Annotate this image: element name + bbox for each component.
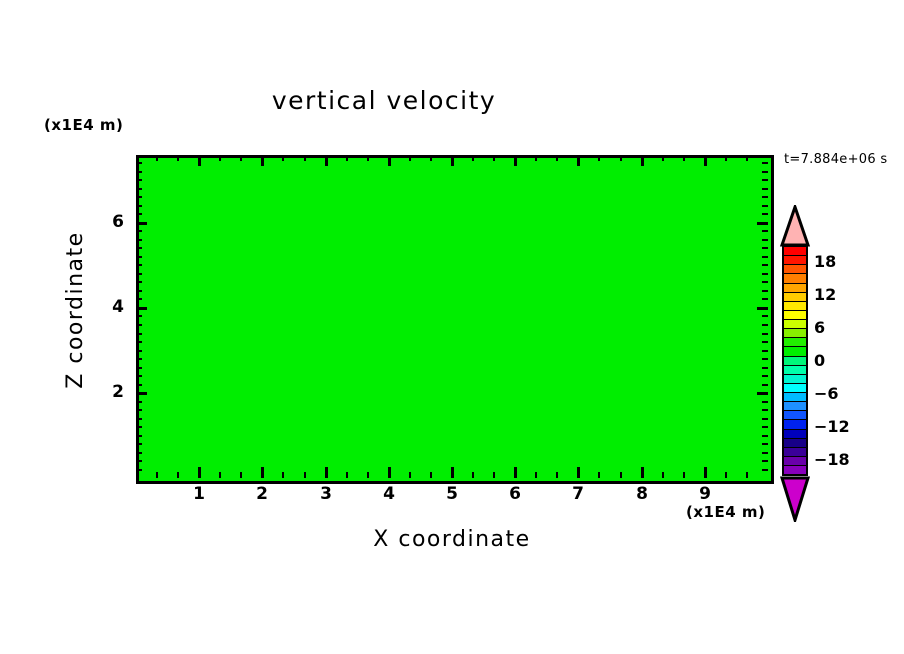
colorbar-band bbox=[784, 402, 806, 411]
x-tick-minor bbox=[304, 472, 306, 478]
x-tick-minor bbox=[156, 155, 158, 161]
x-tick-minor bbox=[598, 472, 600, 478]
y-tick-minor bbox=[762, 418, 768, 420]
colorbar-bands bbox=[782, 245, 808, 476]
colorbar-band bbox=[784, 329, 806, 338]
x-tick-minor bbox=[409, 472, 411, 478]
x-tick-label: 6 bbox=[495, 484, 535, 504]
x-tick-label: 2 bbox=[242, 484, 282, 504]
colorbar-tick-label: 6 bbox=[814, 318, 825, 337]
x-tick-major bbox=[388, 467, 391, 478]
x-tick-minor bbox=[282, 155, 284, 161]
x-tick-minor bbox=[282, 472, 284, 478]
x-tick-minor bbox=[430, 155, 432, 161]
y-tick-minor bbox=[136, 367, 142, 369]
y-tick-minor bbox=[136, 358, 142, 360]
colorbar-tick-label: −18 bbox=[814, 450, 850, 469]
x-tick-major bbox=[514, 155, 517, 166]
x-tick-minor bbox=[556, 155, 558, 161]
y-tick-minor bbox=[136, 281, 142, 283]
colorbar-band bbox=[784, 293, 806, 302]
x-tick-major bbox=[325, 467, 328, 478]
y-tick-minor bbox=[762, 188, 768, 190]
y-tick-minor bbox=[762, 239, 768, 241]
x-tick-minor bbox=[598, 155, 600, 161]
y-tick-major bbox=[757, 222, 768, 225]
axis-decorations: 123456789246 bbox=[0, 0, 904, 654]
x-tick-minor bbox=[240, 155, 242, 161]
colorbar-band bbox=[784, 366, 806, 375]
x-tick-minor bbox=[304, 155, 306, 161]
y-tick-major bbox=[136, 222, 147, 225]
y-tick-minor bbox=[762, 315, 768, 317]
y-tick-minor bbox=[762, 247, 768, 249]
y-tick-minor bbox=[136, 418, 142, 420]
colorbar-band bbox=[784, 384, 806, 393]
y-tick-minor bbox=[762, 171, 768, 173]
x-tick-minor bbox=[683, 155, 685, 161]
colorbar: 181260−6−12−18 bbox=[778, 205, 898, 525]
x-tick-major bbox=[388, 155, 391, 166]
x-tick-minor bbox=[367, 155, 369, 161]
y-tick-minor bbox=[136, 196, 142, 198]
y-tick-minor bbox=[762, 469, 768, 471]
x-tick-minor bbox=[472, 472, 474, 478]
x-tick-minor bbox=[683, 472, 685, 478]
y-tick-minor bbox=[136, 324, 142, 326]
colorbar-band bbox=[784, 466, 806, 474]
colorbar-band bbox=[784, 448, 806, 457]
colorbar-under-arrow-icon bbox=[778, 474, 812, 522]
x-tick-major bbox=[704, 467, 707, 478]
y-tick-minor bbox=[762, 384, 768, 386]
y-tick-minor bbox=[136, 426, 142, 428]
x-tick-minor bbox=[472, 155, 474, 161]
y-tick-label: 2 bbox=[94, 382, 124, 402]
y-tick-label: 6 bbox=[94, 212, 124, 232]
x-tick-minor bbox=[746, 155, 748, 161]
colorbar-tick-label: 12 bbox=[814, 285, 836, 304]
x-tick-minor bbox=[556, 472, 558, 478]
y-tick-minor bbox=[762, 179, 768, 181]
x-tick-minor bbox=[746, 472, 748, 478]
y-tick-minor bbox=[136, 205, 142, 207]
y-tick-minor bbox=[762, 256, 768, 258]
y-tick-minor bbox=[136, 264, 142, 266]
x-tick-major bbox=[577, 155, 580, 166]
x-tick-major bbox=[451, 467, 454, 478]
x-tick-minor bbox=[346, 155, 348, 161]
y-tick-minor bbox=[136, 443, 142, 445]
colorbar-band bbox=[784, 274, 806, 283]
y-tick-minor bbox=[136, 290, 142, 292]
y-tick-minor bbox=[136, 341, 142, 343]
x-tick-minor bbox=[662, 472, 664, 478]
x-tick-minor bbox=[725, 155, 727, 161]
y-tick-minor bbox=[136, 298, 142, 300]
y-tick-minor bbox=[762, 409, 768, 411]
colorbar-band bbox=[784, 256, 806, 265]
y-tick-major bbox=[136, 392, 147, 395]
x-tick-minor bbox=[535, 472, 537, 478]
y-tick-major bbox=[136, 307, 147, 310]
x-tick-major bbox=[261, 467, 264, 478]
colorbar-band bbox=[784, 347, 806, 356]
x-tick-minor bbox=[662, 155, 664, 161]
colorbar-band bbox=[784, 302, 806, 311]
y-tick-minor bbox=[136, 375, 142, 377]
x-tick-minor bbox=[367, 472, 369, 478]
y-tick-minor bbox=[762, 375, 768, 377]
x-tick-minor bbox=[493, 155, 495, 161]
y-tick-minor bbox=[136, 188, 142, 190]
x-tick-major bbox=[577, 467, 580, 478]
y-tick-minor bbox=[136, 401, 142, 403]
colorbar-band bbox=[784, 338, 806, 347]
y-tick-minor bbox=[136, 333, 142, 335]
plot-canvas: vertical velocity (x1E4 m) t=7.884e+06 s… bbox=[0, 0, 904, 654]
colorbar-over-arrow-icon bbox=[778, 205, 812, 247]
y-tick-minor bbox=[762, 350, 768, 352]
colorbar-band bbox=[784, 284, 806, 293]
y-tick-minor bbox=[762, 460, 768, 462]
y-tick-minor bbox=[136, 384, 142, 386]
x-tick-minor bbox=[620, 155, 622, 161]
y-tick-minor bbox=[762, 333, 768, 335]
x-tick-label: 8 bbox=[622, 484, 662, 504]
colorbar-band bbox=[784, 439, 806, 448]
x-tick-major bbox=[641, 155, 644, 166]
colorbar-band bbox=[784, 311, 806, 320]
x-tick-major bbox=[198, 467, 201, 478]
y-tick-minor bbox=[762, 435, 768, 437]
x-tick-minor bbox=[219, 472, 221, 478]
x-tick-major bbox=[325, 155, 328, 166]
y-tick-minor bbox=[136, 230, 142, 232]
x-tick-minor bbox=[177, 472, 179, 478]
y-tick-minor bbox=[762, 290, 768, 292]
y-tick-minor bbox=[762, 367, 768, 369]
y-tick-minor bbox=[762, 213, 768, 215]
y-tick-minor bbox=[136, 273, 142, 275]
colorbar-band bbox=[784, 265, 806, 274]
colorbar-tick-label: 18 bbox=[814, 252, 836, 271]
y-tick-label: 4 bbox=[94, 297, 124, 317]
y-tick-minor bbox=[136, 315, 142, 317]
y-tick-minor bbox=[762, 196, 768, 198]
x-tick-major bbox=[261, 155, 264, 166]
y-tick-minor bbox=[136, 469, 142, 471]
x-tick-minor bbox=[430, 472, 432, 478]
y-tick-minor bbox=[762, 273, 768, 275]
y-tick-minor bbox=[762, 264, 768, 266]
y-tick-minor bbox=[762, 452, 768, 454]
colorbar-band bbox=[784, 320, 806, 329]
y-tick-minor bbox=[762, 443, 768, 445]
x-tick-minor bbox=[219, 155, 221, 161]
colorbar-band bbox=[784, 411, 806, 420]
x-tick-major bbox=[451, 155, 454, 166]
x-tick-minor bbox=[156, 472, 158, 478]
x-tick-minor bbox=[535, 155, 537, 161]
y-tick-minor bbox=[762, 358, 768, 360]
colorbar-band bbox=[784, 420, 806, 429]
y-tick-minor bbox=[136, 452, 142, 454]
x-tick-major bbox=[641, 467, 644, 478]
y-tick-minor bbox=[136, 409, 142, 411]
colorbar-band bbox=[784, 393, 806, 402]
x-tick-minor bbox=[725, 472, 727, 478]
x-tick-minor bbox=[409, 155, 411, 161]
x-tick-major bbox=[704, 155, 707, 166]
colorbar-band bbox=[784, 457, 806, 466]
x-tick-minor bbox=[620, 472, 622, 478]
colorbar-band bbox=[784, 247, 806, 256]
x-tick-minor bbox=[240, 472, 242, 478]
colorbar-tick-label: −12 bbox=[814, 417, 850, 436]
y-tick-major bbox=[757, 392, 768, 395]
y-tick-minor bbox=[136, 239, 142, 241]
y-tick-minor bbox=[762, 341, 768, 343]
x-tick-label: 5 bbox=[432, 484, 472, 504]
colorbar-tick-label: 0 bbox=[814, 351, 825, 370]
colorbar-band bbox=[784, 375, 806, 384]
colorbar-band bbox=[784, 430, 806, 439]
y-tick-major bbox=[757, 307, 768, 310]
x-tick-label: 9 bbox=[685, 484, 725, 504]
y-tick-minor bbox=[136, 435, 142, 437]
y-tick-minor bbox=[136, 247, 142, 249]
x-tick-label: 7 bbox=[558, 484, 598, 504]
y-tick-minor bbox=[762, 162, 768, 164]
x-tick-major bbox=[198, 155, 201, 166]
y-tick-minor bbox=[136, 350, 142, 352]
y-tick-minor bbox=[762, 298, 768, 300]
x-tick-label: 1 bbox=[179, 484, 219, 504]
y-tick-minor bbox=[762, 426, 768, 428]
y-tick-minor bbox=[762, 281, 768, 283]
x-tick-major bbox=[514, 467, 517, 478]
x-tick-label: 4 bbox=[369, 484, 409, 504]
x-tick-minor bbox=[493, 472, 495, 478]
y-tick-minor bbox=[762, 401, 768, 403]
x-tick-minor bbox=[177, 155, 179, 161]
y-tick-minor bbox=[136, 460, 142, 462]
x-tick-minor bbox=[346, 472, 348, 478]
y-tick-minor bbox=[136, 162, 142, 164]
y-tick-minor bbox=[762, 205, 768, 207]
y-tick-minor bbox=[762, 324, 768, 326]
y-tick-minor bbox=[136, 179, 142, 181]
colorbar-tick-label: −6 bbox=[814, 384, 839, 403]
colorbar-band bbox=[784, 357, 806, 366]
y-tick-minor bbox=[136, 213, 142, 215]
y-tick-minor bbox=[136, 256, 142, 258]
x-tick-label: 3 bbox=[306, 484, 346, 504]
y-tick-minor bbox=[136, 171, 142, 173]
y-tick-minor bbox=[762, 230, 768, 232]
